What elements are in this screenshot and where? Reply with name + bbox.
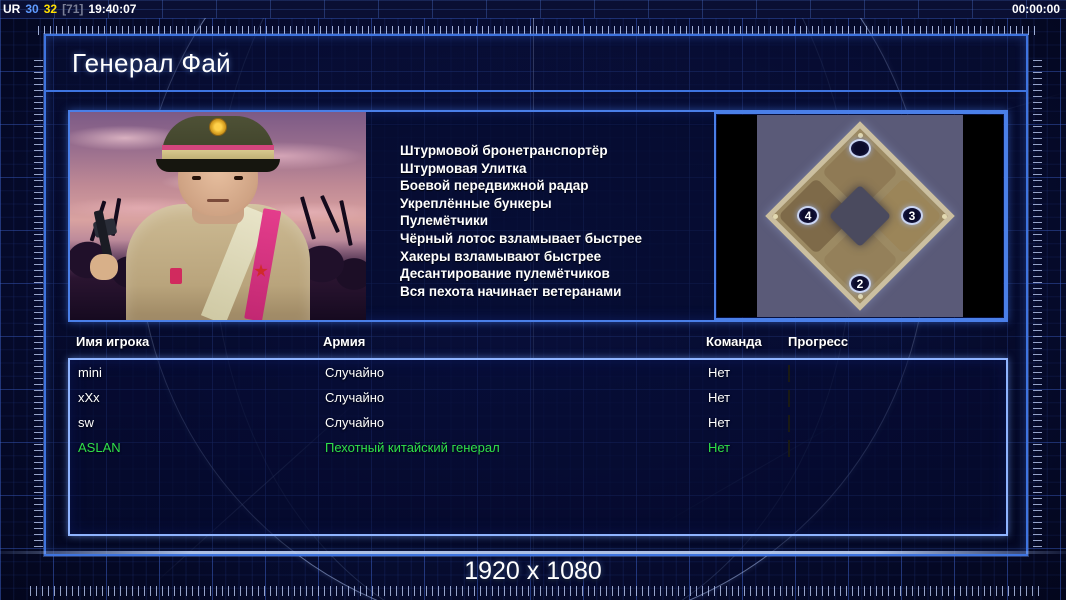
cell-progress: [788, 441, 984, 454]
portrait-eye-right: [234, 176, 243, 180]
progress-bar: [788, 415, 790, 432]
player-table-headers: Имя игрока Армия Команда Прогресс: [68, 334, 1008, 356]
map-start-position-1[interactable]: [849, 139, 871, 158]
general-portrait: [70, 112, 366, 320]
header-progress: Прогресс: [788, 334, 848, 349]
cell-team[interactable]: Нет: [708, 390, 730, 405]
map-preview-inner: 4 3 2: [717, 115, 1003, 317]
cell-army[interactable]: Случайно: [325, 390, 384, 405]
page-title: Генерал Фай: [72, 48, 231, 79]
portrait-medal: [170, 268, 182, 284]
portrait-cap-brim: [156, 159, 280, 172]
title-bar: Генерал Фай: [46, 36, 1026, 92]
footer-divider-line: [0, 551, 1066, 554]
ruler-left-ticks: [34, 60, 43, 550]
cell-team[interactable]: Нет: [708, 440, 730, 455]
ability-item: Десантирование пулемётчиков: [400, 265, 714, 283]
map-terrain-backdrop: 4 3 2: [757, 115, 963, 317]
map-start-position-2[interactable]: 2: [849, 274, 871, 293]
table-row[interactable]: sw Случайно Нет: [70, 410, 1006, 435]
status-prefix-label: UR: [3, 2, 20, 16]
map-corner-marker: [858, 294, 863, 299]
status-bracket-value: [71]: [62, 2, 83, 16]
header-team: Команда: [706, 334, 762, 349]
screen-resolution-label: 1920 x 1080: [0, 557, 1066, 586]
ability-item: Штурмовой бронетранспортёр: [400, 142, 714, 160]
ability-item: Хакеры взламывают быстрее: [400, 248, 714, 266]
cell-army[interactable]: Пехотный китайский генерал: [325, 440, 500, 455]
player-list-panel: mini Случайно Нет xXx Случайно Нет sw Сл…: [68, 358, 1008, 536]
progress-bar: [788, 440, 790, 457]
table-row[interactable]: mini Случайно Нет: [70, 360, 1006, 385]
map-corner-marker: [773, 214, 778, 219]
ruler-right-ticks: [1033, 60, 1042, 550]
cell-progress: [788, 416, 984, 429]
map-corner-marker: [942, 214, 947, 219]
cell-army[interactable]: Случайно: [325, 415, 384, 430]
map-preview[interactable]: 4 3 2: [714, 112, 1006, 320]
ruler-bottom-ticks: [30, 586, 1040, 596]
status-bar-left-group: UR 30 32 [71] 19:40:07: [3, 0, 136, 18]
general-info-frame: Генерал Фай: [44, 34, 1028, 556]
progress-bar: [788, 365, 790, 382]
ability-item: Вся пехота начинает ветеранами: [400, 283, 714, 301]
portrait-mouth: [207, 199, 229, 202]
map-start-position-3[interactable]: 3: [901, 206, 923, 225]
portrait-hand: [90, 254, 118, 280]
general-abilities-list: Штурмовой бронетранспортёр Штурмовая Ули…: [366, 112, 714, 320]
cell-army[interactable]: Случайно: [325, 365, 384, 380]
cell-player-name: xXx: [78, 390, 100, 405]
cell-player-name: mini: [78, 365, 102, 380]
cell-team[interactable]: Нет: [708, 365, 730, 380]
map-corner-marker: [858, 133, 863, 138]
map-start-position-4[interactable]: 4: [797, 206, 819, 225]
ability-item: Укреплённые бункеры: [400, 195, 714, 213]
status-value-one: 30: [25, 2, 38, 16]
top-status-bar: UR 30 32 [71] 19:40:07 00:00:00: [0, 0, 1066, 18]
cell-team[interactable]: Нет: [708, 415, 730, 430]
status-bar-grid: [0, 0, 1066, 18]
cell-progress: [788, 366, 984, 379]
map-center-plateau: [829, 185, 891, 247]
cell-progress: [788, 391, 984, 404]
match-timer: 00:00:00: [1012, 2, 1060, 16]
table-row[interactable]: xXx Случайно Нет: [70, 385, 1006, 410]
status-clock: 19:40:07: [88, 2, 136, 16]
cell-player-name: ASLAN: [78, 440, 121, 455]
ability-item: Чёрный лотос взламывает быстрее: [400, 230, 714, 248]
ability-item: Штурмовая Улитка: [400, 160, 714, 178]
portrait-eye-left: [192, 176, 201, 180]
ability-item: Боевой передвижной радар: [400, 177, 714, 195]
header-player-name: Имя игрока: [76, 334, 149, 349]
progress-bar: [788, 390, 790, 407]
status-value-two: 32: [44, 2, 57, 16]
ability-item: Пулемётчики: [400, 212, 714, 230]
table-row-local-player[interactable]: ASLAN Пехотный китайский генерал Нет: [70, 435, 1006, 460]
general-details-panel: Штурмовой бронетранспортёр Штурмовая Ули…: [68, 110, 1008, 322]
status-bar-right-group: 00:00:00: [1012, 0, 1060, 18]
cell-player-name: sw: [78, 415, 94, 430]
portrait-cap-badge-icon: [209, 118, 227, 136]
header-army: Армия: [323, 334, 365, 349]
